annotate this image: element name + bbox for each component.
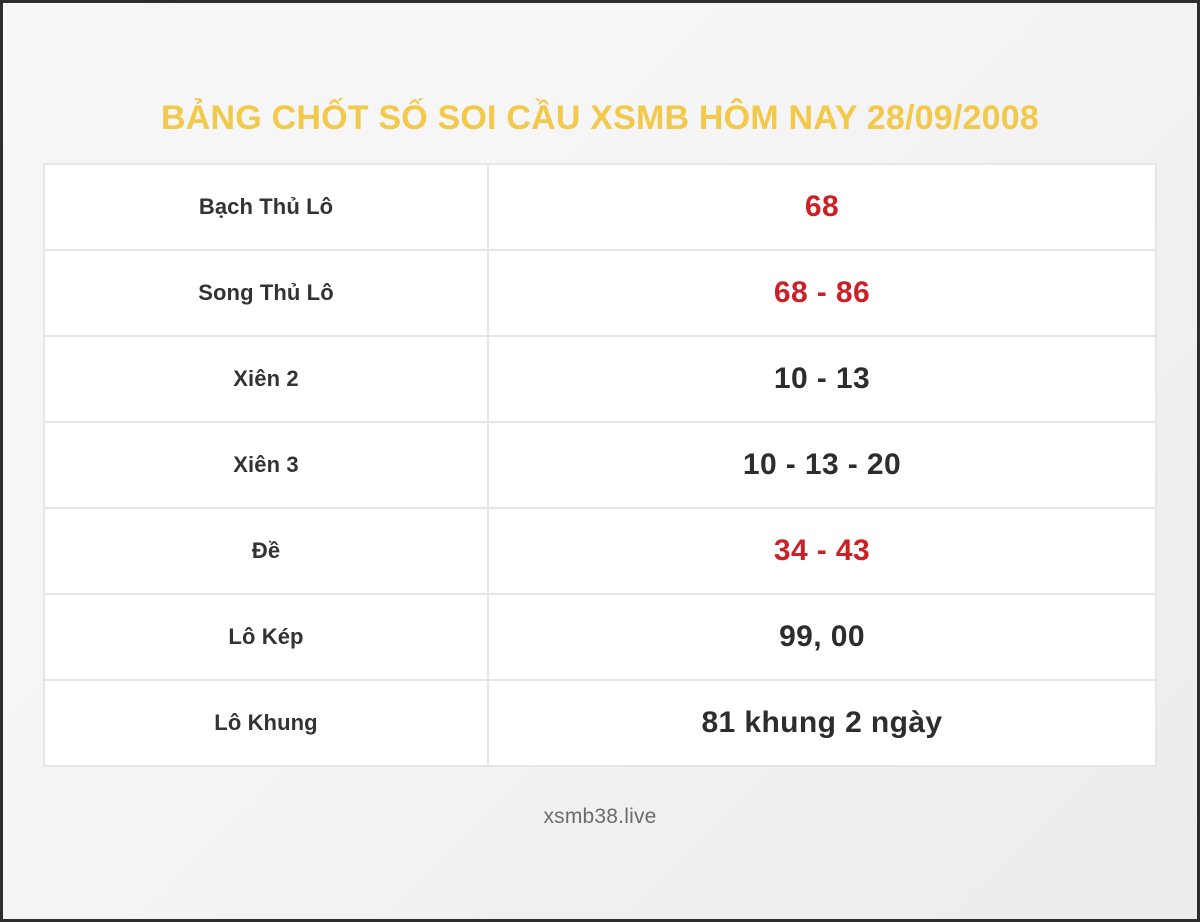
row-label: Lô Khung bbox=[45, 681, 489, 765]
table-row: Bạch Thủ Lô 68 bbox=[45, 165, 1155, 251]
prediction-table: Bạch Thủ Lô 68 Song Thủ Lô 68 - 86 Xiên … bbox=[43, 163, 1157, 767]
row-label: Xiên 2 bbox=[45, 337, 489, 421]
row-label: Xiên 3 bbox=[45, 423, 489, 507]
table-row: Xiên 2 10 - 13 bbox=[45, 337, 1155, 423]
table-row: Đề 34 - 43 bbox=[45, 509, 1155, 595]
row-value: 10 - 13 bbox=[489, 337, 1155, 421]
site-watermark: xsmb38.live bbox=[543, 805, 656, 829]
page-canvas: BẢNG CHỐT SỐ SOI CẦU XSMB HÔM NAY 28/09/… bbox=[0, 0, 1200, 922]
page-title: BẢNG CHỐT SỐ SOI CẦU XSMB HÔM NAY 28/09/… bbox=[161, 95, 1039, 141]
row-value: 68 bbox=[489, 165, 1155, 249]
row-label: Bạch Thủ Lô bbox=[45, 165, 489, 249]
table-row: Lô Khung 81 khung 2 ngày bbox=[45, 681, 1155, 767]
row-label: Lô Kép bbox=[45, 595, 489, 679]
row-label: Song Thủ Lô bbox=[45, 251, 489, 335]
table-row: Lô Kép 99, 00 bbox=[45, 595, 1155, 681]
row-value: 10 - 13 - 20 bbox=[489, 423, 1155, 507]
row-label: Đề bbox=[45, 509, 489, 593]
row-value: 81 khung 2 ngày bbox=[489, 681, 1155, 765]
row-value: 99, 00 bbox=[489, 595, 1155, 679]
row-value: 68 - 86 bbox=[489, 251, 1155, 335]
table-row: Xiên 3 10 - 13 - 20 bbox=[45, 423, 1155, 509]
row-value: 34 - 43 bbox=[489, 509, 1155, 593]
table-row: Song Thủ Lô 68 - 86 bbox=[45, 251, 1155, 337]
